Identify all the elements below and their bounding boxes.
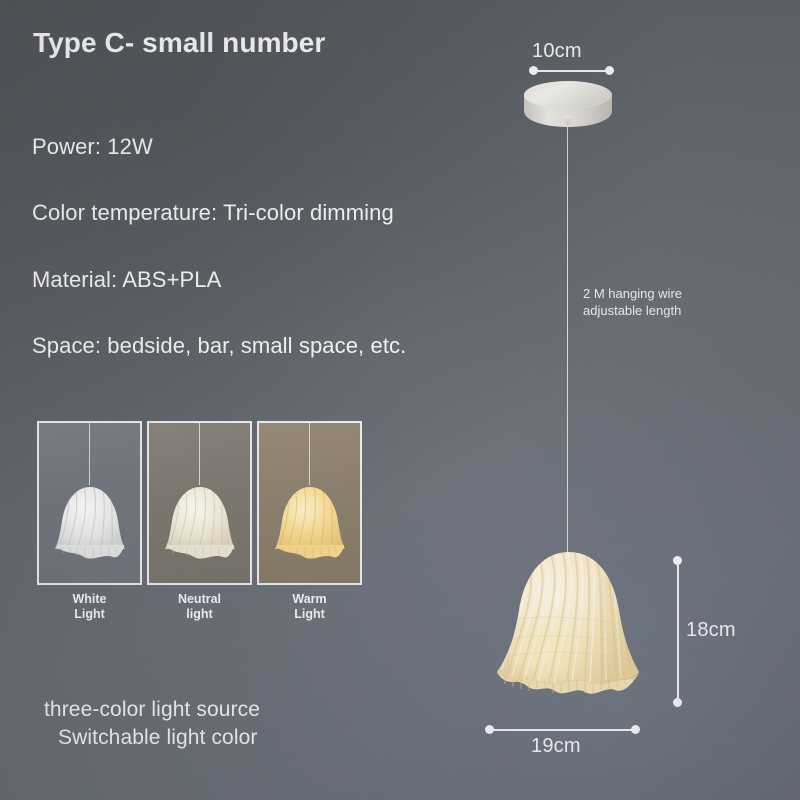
dimension-dot-left <box>529 66 538 75</box>
caption-line2: Switchable light color <box>44 724 260 752</box>
swatch-wire <box>199 423 200 485</box>
product-spec-image: Type C- small number Power: 12W Color te… <box>0 0 800 800</box>
dimension-dot-right-bottom <box>631 725 640 734</box>
lamp-thumbnail-warm <box>271 483 349 563</box>
dimension-label-canopy-width: 10cm <box>532 40 582 63</box>
page-title: Type C- small number <box>33 27 325 59</box>
spec-color-temp: Color temperature: Tri-color dimming <box>32 200 394 226</box>
swatch-neutral-light[interactable]: Neutral light <box>147 421 252 623</box>
swatch-label-line1: Neutral <box>178 592 221 606</box>
dimension-line-canopy-width <box>533 70 609 72</box>
swatch-wire <box>309 423 310 485</box>
swatch-label-line2: Light <box>294 607 325 621</box>
color-swatch-strip: White Light <box>37 421 362 623</box>
caption-text: three-color light source Switchable ligh… <box>44 696 260 752</box>
spec-material: Material: ABS+PLA <box>32 267 221 293</box>
swatch-label-line2: light <box>186 607 212 621</box>
spec-power: Power: 12W <box>32 134 153 160</box>
swatch-wire <box>89 423 90 485</box>
dimension-dot-top <box>673 556 682 565</box>
dimension-line-shade-height <box>677 560 679 702</box>
lamp-thumbnail-neutral <box>161 483 239 563</box>
swatch-label-line1: White <box>72 592 106 606</box>
swatch-frame <box>257 421 362 585</box>
swatch-warm-light[interactable]: Warm Light <box>257 421 362 623</box>
swatch-frame <box>147 421 252 585</box>
dimension-dot-right <box>605 66 614 75</box>
swatch-label: White Light <box>37 592 142 623</box>
swatch-label-line2: Light <box>74 607 105 621</box>
dimension-line-shade-width <box>489 729 635 731</box>
swatch-white-light[interactable]: White Light <box>37 421 142 623</box>
background-gradient <box>0 0 800 800</box>
dimension-dot-bottom <box>673 698 682 707</box>
dimension-label-shade-height: 18cm <box>686 619 736 642</box>
swatch-label: Warm Light <box>257 592 362 623</box>
swatch-frame <box>37 421 142 585</box>
wire-length-note: 2 M hanging wire adjustable length <box>583 285 682 319</box>
caption-line1: three-color light source <box>44 698 260 721</box>
wire-note-line2: adjustable length <box>583 302 682 319</box>
hanging-wire <box>567 122 568 562</box>
dimension-dot-left-bottom <box>485 725 494 734</box>
pendant-lamp-shade <box>483 548 655 716</box>
lamp-thumbnail-white <box>51 483 129 563</box>
spec-space: Space: bedside, bar, small space, etc. <box>32 333 406 359</box>
swatch-label: Neutral light <box>147 592 252 623</box>
wire-note-line1: 2 M hanging wire <box>583 285 682 302</box>
swatch-label-line1: Warm <box>292 592 326 606</box>
dimension-label-shade-width: 19cm <box>531 735 581 758</box>
